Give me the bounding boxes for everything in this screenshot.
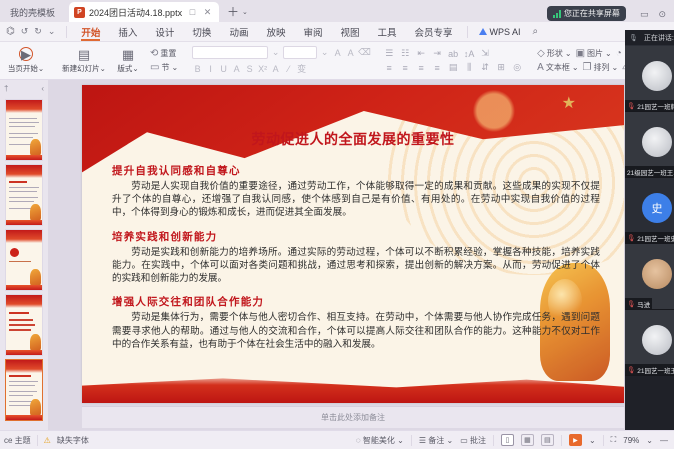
wps-ai-button[interactable]: WPS AI [473,27,527,37]
slide-thumbnail-panel[interactable]: † ‹ [0,80,48,430]
columns-icon[interactable]: ⫼ [463,62,475,73]
chevron-down-icon: ⌄ [446,436,453,445]
ribbon-tab-design[interactable]: 设计 [146,22,183,42]
comment-button[interactable]: ▭ 批注 [460,435,486,446]
thumb-title-line [9,181,27,183]
thumb-line [9,319,33,321]
thumb-line [9,201,34,202]
ribbon-tab-start[interactable]: 开始 [72,22,109,42]
comment-label: 批注 [470,436,486,445]
ribbon-tab-label: 放映 [266,25,285,39]
participant-label: 🎙 21园艺一班王... [625,364,674,375]
section-heading: 提升自我认同感和自尊心 [112,163,600,178]
font-color-icon[interactable]: A [270,64,281,74]
chevron-down-icon: ⌄ [565,49,572,58]
view-sorter-button[interactable]: ▦ [521,434,534,446]
slide-section-2[interactable]: 培养实践和创新能力 劳动是实践和创新能力的培养场所。通过实际的劳动过程，个体可以… [112,229,600,286]
thumb-footer [6,350,42,355]
strikethrough-icon[interactable]: S [244,64,255,74]
slide-thumbnail-1[interactable] [5,99,43,161]
signal-bars-icon [553,10,561,18]
notes-button[interactable]: ☰ 备注 ⌄ [419,435,453,446]
toolbar-group-slideshow: ▶ 当页开始⌄ [0,42,52,80]
ribbon-tab-animation[interactable]: 动画 [220,22,257,42]
chevron-down-icon: ⌄ [132,64,138,73]
ribbon-tab-label: 设计 [155,25,174,39]
underline-icon[interactable]: U [218,64,229,74]
participant-tile-5[interactable]: 🎙 21园艺一班王... [625,310,674,376]
slide-section-1[interactable]: 提升自我认同感和自尊心 劳动是人实现自我价值的重要途径，通过劳动工作，个体能够取… [112,163,600,220]
warning-icon: ⚠ [44,436,51,445]
thumb-line [9,261,31,262]
thumb-line [9,329,31,331]
highlight-icon[interactable]: ⁄ [283,64,294,74]
ribbon-tab-label: 工具 [378,25,397,39]
status-right: ◌ 智能美化 ⌄ ☰ 备注 ⌄ ▭ 批注 ▯ ▦ ▤ ▶ ⌄ ⛶ 79% ⌄ — [356,434,674,446]
slideshow-caret-icon[interactable]: ⌄ [589,436,596,445]
ribbon-tab-tools[interactable]: 工具 [369,22,406,42]
chevron-down-icon: ⌄ [171,63,178,72]
status-divider [411,435,412,446]
speaking-label: 正在讲话: [644,33,674,43]
home-ribbon-toolbar: ▶ 当页开始⌄ ▤ 新建幻灯片⌄ ▦ 版式⌄ ⟲重置 ▭节⌄ [0,42,674,80]
slide-title[interactable]: 劳动促进人的全面发展的重要性 [82,129,624,149]
picture-label: 图片 [587,48,603,59]
slide-body-content[interactable]: 提升自我认同感和自尊心 劳动是人实现自我价值的重要途径，通过劳动工作，个体能够取… [112,163,600,360]
muted-mic-icon: 🎙 [627,102,635,110]
participant-tile-4[interactable]: 🎙 马进 [625,244,674,310]
theme-label[interactable]: ce 主题 [4,435,31,446]
ribbon-tab-insert[interactable]: 插入 [109,22,146,42]
font-size-caret-icon[interactable]: ⌄ [319,47,330,58]
screen-share-badge[interactable]: 您正在共享屏幕 [547,6,626,21]
participant-tile-3[interactable]: 史 🎙 21园艺一班史... [625,178,674,244]
current-slide[interactable]: ★ 劳动促进人的全面发展的重要性 提升自我认同感和自尊心 劳动是人实现自我价值的… [82,85,624,403]
beautify-button[interactable]: ◌ 智能美化 ⌄ [356,435,404,446]
thumb-line [9,187,39,188]
thumb-lion-graphic [30,204,41,221]
start-from-current-button[interactable]: ▶ 当页开始⌄ [4,47,48,74]
ribbon-divider [467,26,468,38]
thumb-banner [6,295,42,308]
ribbon-tab-label: 视图 [340,25,359,39]
picture-button[interactable]: ▣图片⌄ [576,48,612,59]
slide-red-footer [82,373,624,403]
ribbon-tab-review[interactable]: 审阅 [294,22,331,42]
chevron-down-icon: ⌄ [605,49,612,58]
ribbon-tab-label: 切换 [192,25,211,39]
participant-label: 21级园艺一班王... [625,166,674,177]
thumb-footer [6,220,42,225]
status-divider [561,435,562,446]
notes-placeholder: 单击此处添加备注 [321,412,385,423]
status-divider [37,435,38,446]
thumbnail-panel-header: † ‹ [0,80,48,96]
chevron-down-icon[interactable]: ⌄ [242,8,248,16]
increase-indent-icon[interactable]: ⇥ [431,48,443,59]
participant-tile-2[interactable]: 21级园艺一班王... [625,112,674,178]
participant-label: 🎙 21园艺一班韩... [625,100,674,111]
chevron-down-icon: ⌄ [612,63,619,72]
tab-document[interactable]: P 2024团日活动4.18.pptx □ ✕ [69,2,219,22]
tab-template-label: 我的壳模板 [10,6,55,19]
status-left: ce 主题 ⚠ 缺失字体 [0,435,89,446]
thumb-banner [6,230,42,243]
zoom-caret-icon[interactable]: ⌄ [646,436,653,445]
textbox-label: 文本框 [546,62,570,73]
numbered-list-icon[interactable]: ☷ [399,48,411,59]
thumb-lion-graphic [30,139,41,156]
toolbar-group-font: ⌄ ⌄ A A ⌫ B I U A S X² A ⁄ 变 [188,42,373,80]
app-menu-icon[interactable]: ⌬ [6,26,15,37]
muted-mic-icon: 🎙 [627,366,635,374]
status-divider [603,435,604,446]
section-button[interactable]: ▭节⌄ [150,62,178,73]
beautify-label: 智能美化 [363,436,395,445]
ribbon-search-icon[interactable]: ⌕ [527,26,545,37]
slide-thumbnail-3[interactable] [5,229,43,291]
chevron-down-icon: ⌄ [100,64,106,73]
slide-section-3[interactable]: 增强人际交往和团队合作能力 劳动是集体行为，需要个体与他人密切合作、相互支持。在… [112,294,600,351]
new-tab-button[interactable]: ＋ ⌄ [227,3,248,22]
thumb-lion-graphic [30,399,41,416]
ribbon-tab-label: 开始 [81,25,100,39]
bold-icon[interactable]: B [192,64,203,74]
thumb-line [9,324,35,326]
toolbar-group-section-reset: ⟲重置 ▭节⌄ [150,42,178,80]
view-reading-button[interactable]: ▤ [541,434,554,446]
justify-icon[interactable]: ≡ [431,63,443,73]
participant-name: 21园艺一班史... [637,233,674,243]
shape-label: 形状 [547,48,563,59]
participant-label: 🎙 马进 [625,298,652,309]
slide-thumbnail-2[interactable] [5,164,43,226]
arrange-label: 排列 [594,62,610,73]
plus-icon: ＋ [227,3,239,20]
missing-font-label[interactable]: 缺失字体 [57,435,89,446]
restore-tab-icon[interactable]: □ [187,7,198,18]
start-slideshow-button[interactable]: ▶ [569,434,582,446]
smartart-icon[interactable]: ⊞ [495,62,507,73]
reset-icon: ⟲ [150,48,158,59]
tab-template[interactable]: 我的壳模板 [0,3,65,22]
section-heading: 增强人际交往和团队合作能力 [112,294,600,309]
participant-name: 21园艺一班王... [637,365,674,375]
thumb-banner [6,165,42,178]
star-icon: ★ [562,93,576,113]
participant-name: 21级园艺一班王... [627,167,674,177]
thumb-circle-graphic [10,248,19,257]
undo-icon[interactable]: ↺ [21,26,29,37]
pin-icon[interactable]: † [4,84,8,93]
decrease-indent-icon[interactable]: ⇤ [415,48,427,59]
chevron-down-icon: ⌄ [572,63,579,72]
avatar-initial: 史 [652,200,663,216]
section-paragraph: 劳动是实践和创新能力的培养场所。通过实际的劳动过程，个体可以不断积累经验，掌握各… [112,246,600,286]
thumb-line [9,405,31,406]
line-spacing-icon[interactable]: ↕A [463,49,475,59]
fit-to-window-icon[interactable]: ⛶ [611,435,617,445]
status-bar: ce 主题 ⚠ 缺失字体 ◌ 智能美化 ⌄ ☰ 备注 ⌄ ▭ 批注 ▯ ▦ ▤ … [0,430,674,449]
section-label: 节 [161,62,169,73]
char-style-icon[interactable]: 变 [296,62,307,75]
notes-label: 备注 [428,436,444,445]
picture-icon: ▣ [576,48,585,59]
bullet-list-icon[interactable]: ☰ [383,48,395,59]
microphone-icon: 🎙 [629,34,638,42]
thumb-line [9,122,39,123]
speaker-notes-pane[interactable]: 单击此处添加备注 [82,406,624,428]
align-text-icon[interactable]: ⇵ [479,62,491,73]
section-heading: 培养实践和创新能力 [112,229,600,244]
chevron-down-icon: ⌄ [38,64,44,73]
slide-editing-canvas[interactable]: ★ 劳动促进人的全面发展的重要性 提升自我认同感和自尊心 劳动是人实现自我价值的… [48,80,625,430]
thumb-line [9,395,33,396]
clear-format-icon[interactable]: ⌫ [358,47,369,58]
thumb-line [9,197,38,198]
font-family-caret-icon[interactable]: ⌄ [270,47,281,58]
arrange-button[interactable]: ❐排列⌄ [583,62,619,73]
ribbon-tab-bar: ⌬ ↺ ↻ ⌄ 开始 插入 设计 切换 动画 放映 审阅 视图 工具 会员专享 … [0,22,674,42]
thumb-line [9,191,37,192]
text-shadow-icon[interactable]: A [231,64,242,74]
thumb-line [9,385,35,386]
shrink-font-icon[interactable]: A [345,48,356,58]
thumb-lion-graphic [30,334,41,351]
window-controls: ▭ ⊙ [626,9,674,22]
thumb-footer [6,415,42,420]
avatar: 史 [642,193,672,223]
thumb-line [9,126,35,127]
ribbon-tab-slideshow[interactable]: 放映 [257,22,294,42]
powerpoint-file-icon: P [74,7,85,18]
thumb-line [9,381,38,382]
thumb-line [9,391,37,392]
avatar [642,259,672,289]
toolbar-group-slides: ▤ 新建幻灯片⌄ ▦ 版式⌄ ⟲重置 ▭节⌄ [58,42,182,80]
ribbon-tab-label: 动画 [229,25,248,39]
new-slide-button[interactable]: ▤ 新建幻灯片⌄ [62,48,106,74]
shape-icon: ◇ [537,48,545,59]
thumb-banner [6,100,42,113]
participant-name: 马进 [637,299,650,309]
layout-label: 版式 [117,64,132,73]
speaking-status-header: 🎙 正在讲话: [625,30,674,46]
reset-button[interactable]: ⟲重置 [150,48,176,59]
quick-more-icon[interactable]: ⌄ [48,26,56,37]
wps-ai-label: WPS AI [490,27,521,37]
start-from-current-label: 当页开始 [8,64,38,73]
arrange-icon: ❐ [583,62,592,73]
align-right-icon[interactable]: ≡ [415,63,427,73]
textbox-icon: A [537,62,544,73]
align-left-icon[interactable]: ≡ [383,63,395,73]
quick-access-toolbar: ⌬ ↺ ↻ ⌄ [0,26,61,37]
thumb-title-line [9,375,31,377]
thumb-line [9,133,38,134]
section-icon: ▭ [150,62,159,73]
collapse-panel-icon[interactable]: ‹ [41,84,44,93]
pinyin-guide-icon[interactable]: ab [447,49,459,59]
thumb-title-line [9,312,29,314]
view-normal-button[interactable]: ▯ [501,434,514,446]
status-divider [493,435,494,446]
zoom-out-button[interactable]: — [660,436,668,445]
ribbon-tab-view[interactable]: 视图 [331,22,368,42]
layout-button[interactable]: ▦ 版式⌄ [106,48,150,74]
italic-icon[interactable]: I [205,64,216,74]
new-slide-icon: ▤ [78,48,90,61]
new-slide-label: 新建幻灯片 [62,64,100,73]
chevron-down-icon: ⌄ [397,436,404,445]
align-center-icon[interactable]: ≡ [399,63,411,73]
avatar [642,127,672,157]
ribbon-tab-label: 审阅 [303,25,322,39]
screen-share-label: 您正在共享屏幕 [564,8,620,19]
distribute-icon[interactable]: ▤ [447,62,459,73]
redo-icon[interactable]: ↻ [34,26,42,37]
thumb-footer [6,155,42,160]
tab-document-label: 2024团日活动4.18.pptx [89,6,183,19]
section-paragraph: 劳动是集体行为，需要个体与他人密切合作、相互支持。在劳动中，个体需要与他人协作完… [112,311,600,351]
slide-thumbnail-5[interactable] [5,359,43,421]
muted-mic-icon: 🎙 [627,300,635,308]
reset-label: 重置 [160,48,176,59]
wps-ai-icon [479,28,487,35]
minimize-icon[interactable]: ▭ [640,9,649,20]
window-tab-strip: 我的壳模板 P 2024团日活动4.18.pptx □ ✕ ＋ ⌄ 您正在共享屏… [0,0,674,22]
text-effect-icon[interactable]: ◎ [511,62,523,73]
layout-icon: ▦ [122,48,134,61]
thumb-footer [6,285,42,290]
font-family-input[interactable] [192,46,268,59]
participant-label: 🎙 21园艺一班史... [625,232,674,243]
ribbon-tab-label: 会员专享 [415,25,453,39]
avatar [642,61,672,91]
muted-mic-icon: 🎙 [627,234,635,242]
wps-presentation-window: 我的壳模板 P 2024团日活动4.18.pptx □ ✕ ＋ ⌄ 您正在共享屏… [0,0,674,449]
meeting-participants-panel[interactable]: 🎙 正在讲话: 🎙 21园艺一班韩... 21级园艺一班王... 史 🎙 21园 [625,30,674,430]
play-circle-icon: ▶ [19,47,33,61]
ribbon-divider [66,26,67,38]
thumb-line [9,137,33,138]
textbox-button[interactable]: A文本框⌄ [537,62,578,73]
toolbar-group-paragraph: ☰ ☷ ⇤ ⇥ ab ↕A ⇲ ≡ ≡ ≡ ≡ ▤ ⫼ ⇵ ⊞ [379,42,527,80]
slide-thumbnail-4[interactable] [5,294,43,356]
fill-icon: ◔ [616,48,622,59]
section-paragraph: 劳动是人实现自我价值的重要途径，通过劳动工作，个体能够取得一定的成果和贡献。这些… [112,180,600,220]
grow-font-icon[interactable]: A [332,48,343,58]
close-tab-icon[interactable]: ✕ [202,7,213,18]
thumb-line [9,118,37,119]
participant-name: 21园艺一班韩... [637,101,674,111]
ribbon-tab-label: 插入 [118,25,137,39]
help-icon[interactable]: ⊙ [658,9,666,20]
ribbon-tab-transition[interactable]: 切换 [183,22,220,42]
superscript-icon[interactable]: X² [257,64,268,74]
participant-tile-1[interactable]: 🎙 21园艺一班韩... [625,46,674,112]
ribbon-tab-member[interactable]: 会员专享 [406,22,462,42]
avatar [642,325,672,355]
text-direction-icon[interactable]: ⇲ [479,48,491,59]
shape-button[interactable]: ◇形状⌄ [537,48,571,59]
thumb-banner [6,360,42,373]
thumb-lion-graphic [30,269,41,286]
zoom-level-label[interactable]: 79% [623,436,639,445]
font-size-input[interactable] [283,46,317,59]
